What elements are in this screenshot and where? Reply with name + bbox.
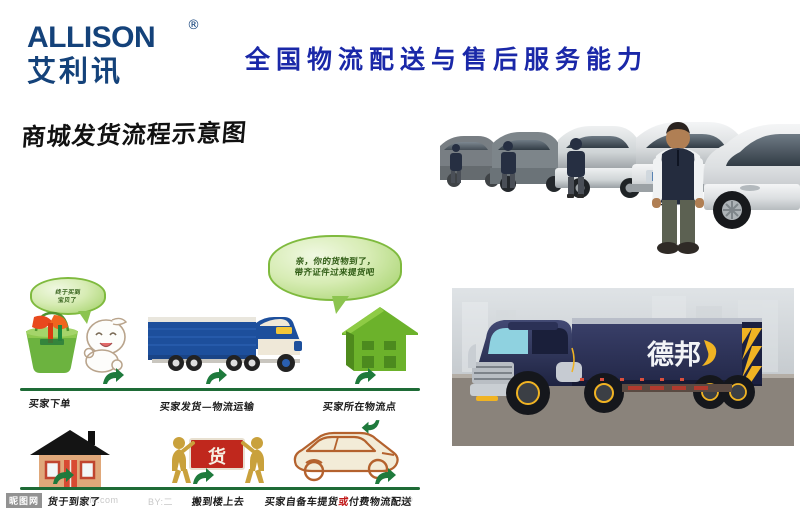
truck-brand-text: 德邦 — [647, 340, 701, 371]
watermark-by: BY:二 — [148, 495, 173, 508]
logo-wordmark-en: ALLISON — [27, 21, 155, 54]
cartoon-buyer-icon — [76, 313, 136, 373]
header: ALLISON ® 艾利讯 全国物流配送与售后服务能力 — [0, 0, 800, 100]
flow-baseline-1 — [20, 388, 420, 391]
green-house-icon — [336, 305, 426, 377]
page-title: 全国物流配送与售后服务能力 — [245, 40, 755, 76]
flow-label-pickup-a: 买家自备车提货 — [264, 497, 339, 508]
deppon-truck-photo: 德邦 — [452, 288, 794, 446]
svg-text:货: 货 — [208, 446, 226, 468]
deppon-truck-illustration: 德邦 — [452, 288, 794, 446]
speech-bubble-arrival-notice-text: 亲，你的货物到了，带齐证件过来提货吧 — [288, 257, 382, 278]
flow-arrow-icon-2 — [203, 367, 229, 387]
vehicle-fleet-photo — [440, 110, 800, 270]
speech-bubble-buyer-happy-text: 终于买到宝贝了 — [55, 289, 82, 304]
flow-arrow-icon-1 — [100, 367, 126, 387]
company-logo: ALLISON ® 艾利讯 — [27, 22, 207, 84]
flow-label-home: 货于到家了 — [47, 493, 101, 508]
flow-baseline-2 — [20, 487, 420, 490]
flow-label-depot: 买家所在物流点 — [322, 398, 397, 413]
slide-root: ALLISON ® 艾利讯 全国物流配送与售后服务能力 商城发货流程示意图 终于… — [0, 0, 800, 450]
flow-arrow-icon-4 — [50, 467, 76, 487]
flow-arrow-icon-7 — [360, 417, 382, 435]
logo-wordmark-cn: 艾利讯 — [27, 55, 207, 87]
icon-semi-truck — [146, 313, 306, 375]
flow-arrow-icon-3 — [352, 367, 378, 387]
speech-bubble-arrival-notice: 亲，你的货物到了，带齐证件过来提货吧 — [268, 235, 402, 301]
flow-label-pickup-b: 付费物流配送 — [348, 497, 412, 508]
flow-label-carry: 搬到楼上去 — [191, 493, 245, 508]
carriers-icon: 货 — [163, 427, 273, 489]
icon-green-house — [336, 305, 426, 377]
registered-trademark-icon: ® — [187, 18, 200, 33]
vehicle-fleet-illustration — [440, 110, 800, 270]
semi-truck-icon — [146, 313, 306, 375]
shipping-flow-diagram: 商城发货流程示意图 终于买到宝贝了 亲，你的货物到了，带齐证件过来提货吧 — [0, 105, 435, 415]
icon-carriers: 货 — [163, 427, 273, 489]
icon-shopping-basket-group — [18, 305, 138, 375]
flow-arrow-icon-5 — [190, 467, 216, 487]
flow-label-ship: 买家发货—物流运输 — [159, 398, 255, 413]
flow-arrow-icon-6 — [372, 467, 398, 487]
diagram-title: 商城发货流程示意图 — [20, 113, 248, 153]
flow-label-pickup: 买家自备车提货或付费物流配送 — [264, 493, 413, 508]
flow-label-order: 买家下单 — [28, 395, 72, 410]
watermark-badge: 昵图网 — [6, 493, 42, 508]
